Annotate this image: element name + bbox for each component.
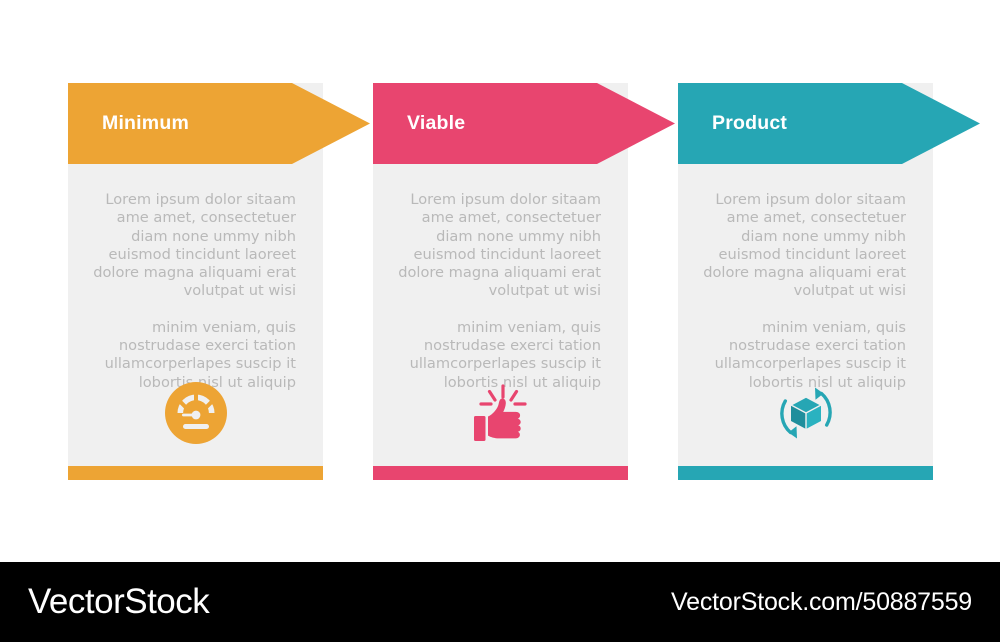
column-card-minimum[interactable]: Lorem ipsum dolor sitaam ame amet, conse… [68,83,323,480]
column-body-product: Lorem ipsum dolor sitaam ame amet, conse… [696,191,906,392]
icon-slot-viable [373,373,628,453]
column-body-viable: Lorem ipsum dolor sitaam ame amet, conse… [391,191,601,392]
column-bottom-bar-minimum [68,466,323,480]
vectorstock-logo: VectorStock [28,582,209,622]
paragraph: Lorem ipsum dolor sitaam ame amet, conse… [696,191,906,301]
paragraph: Lorem ipsum dolor sitaam ame amet, conse… [86,191,296,301]
column-card-product[interactable]: Lorem ipsum dolor sitaam ame amet, conse… [678,83,933,480]
icon-slot-minimum [68,373,323,453]
column-bottom-bar-product [678,466,933,480]
cube-refresh-icon [774,381,838,445]
watermark-footer: VectorStock VectorStock.com/50887559 [0,562,1000,642]
vectorstock-url: VectorStock.com/50887559 [671,588,972,617]
column-body-minimum: Lorem ipsum dolor sitaam ame amet, conse… [86,191,296,392]
column-bottom-bar-viable [373,466,628,480]
speedometer-gauge-icon [165,382,227,444]
icon-slot-product [678,373,933,453]
thumbs-up-icon [470,382,532,444]
column-card-viable[interactable]: Lorem ipsum dolor sitaam ame amet, conse… [373,83,628,480]
paragraph: Lorem ipsum dolor sitaam ame amet, conse… [391,191,601,301]
infographic-canvas: Lorem ipsum dolor sitaam ame amet, conse… [0,0,1000,642]
